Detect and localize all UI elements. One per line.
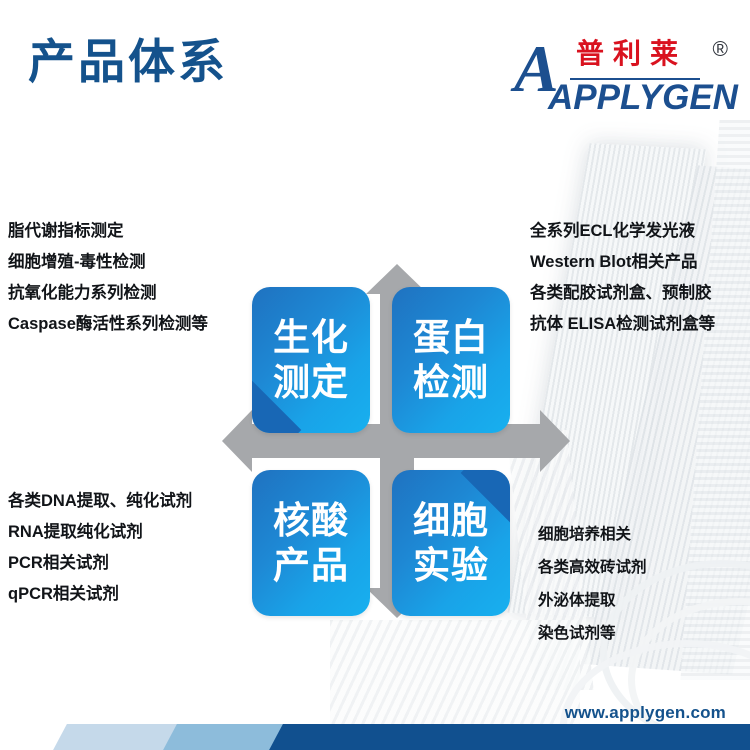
tile-label-line1: 生化 [273,317,349,358]
tile-label: 核酸 产品 [273,498,349,588]
tile-label-line2: 测定 [273,362,349,403]
list-item: 抗体 ELISA检测试剂盒等 [530,309,715,340]
tile-protein[interactable]: 蛋白 检测 [392,287,510,433]
logo-english-name: APPLYGEN [548,80,738,115]
logo-chinese-name: 普利莱 [576,40,687,68]
list-item: RNA提取纯化试剂 [8,517,192,548]
building-tower-c [680,120,750,680]
tile-label-line1: 蛋白 [413,317,489,358]
list-item: Western Blot相关产品 [530,247,715,278]
list-item: 各类DNA提取、纯化试剂 [8,486,192,517]
list-item: 染色试剂等 [538,617,647,650]
arrow-head-right-icon [540,410,570,472]
list-item: 抗氧化能力系列检测 [8,278,208,309]
tile-label-line2: 检测 [413,362,489,403]
footer-segment-dark-fill [330,724,750,750]
page-title: 产品体系 [28,36,228,88]
list-item: 细胞培养相关 [538,518,647,551]
tile-biochemical[interactable]: 生化 测定 [252,287,370,433]
registered-trademark-icon: ® [713,39,728,60]
list-item: 全系列ECL化学发光液 [530,216,715,247]
tile-cell[interactable]: 细胞 实验 [392,470,510,616]
tile-label-line1: 核酸 [273,500,349,541]
arrow-head-left-icon [222,410,252,472]
list-item: 各类配胶试剂盒、预制胶 [530,278,715,309]
list-item: 细胞增殖-毒性检测 [8,247,208,278]
list-item: 各类高效砖试剂 [538,551,647,584]
tile-label-line2: 产品 [273,545,349,586]
list-item: Caspase酶活性系列检测等 [8,309,208,340]
footer-bar [0,724,750,750]
tile-label: 细胞 实验 [413,498,489,588]
tile-label-line1: 细胞 [413,500,489,541]
list-item: qPCR相关试剂 [8,579,192,610]
website-url[interactable]: www.applygen.com [565,703,726,723]
list-bottom-left: 各类DNA提取、纯化试剂 RNA提取纯化试剂 PCR相关试剂 qPCR相关试剂 [8,486,192,610]
list-top-right: 全系列ECL化学发光液 Western Blot相关产品 各类配胶试剂盒、预制胶… [530,216,715,340]
tile-label: 蛋白 检测 [413,315,489,405]
company-logo: A 普利莱 ® APPLYGEN [514,34,728,118]
list-item: PCR相关试剂 [8,548,192,579]
list-top-left: 脂代谢指标测定 细胞增殖-毒性检测 抗氧化能力系列检测 Caspase酶活性系列… [8,216,208,340]
tile-label-line2: 实验 [413,545,489,586]
list-item: 脂代谢指标测定 [8,216,208,247]
slide-canvas: 产品体系 A 普利莱 ® APPLYGEN 脂代谢指标测定 细胞增殖-毒性检测 … [0,0,750,750]
list-item: 外泌体提取 [538,584,647,617]
tile-nucleic-acid[interactable]: 核酸 产品 [252,470,370,616]
list-bottom-right: 细胞培养相关 各类高效砖试剂 外泌体提取 染色试剂等 [538,518,647,650]
tile-label: 生化 测定 [273,315,349,405]
